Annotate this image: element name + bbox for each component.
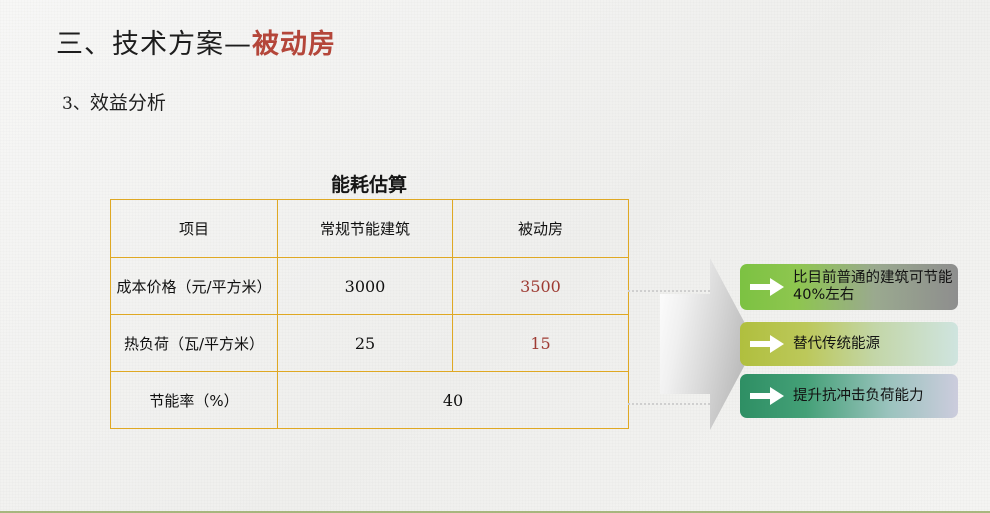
page-title-main: 三、技术方案— [56,29,252,60]
cell-cost-conventional: 3000 [278,258,453,315]
section-title: 效益分析 [90,92,166,114]
callout-label: 替代传统能源 [793,336,880,353]
arrow-right-icon [750,335,784,353]
table-header-item: 项目 [111,200,278,258]
cell-saving-rate-merged: 40 [278,372,629,429]
table-caption: 能耗估算 [110,170,628,197]
table-header-passive: 被动房 [453,200,629,258]
row-label-cost: 成本价格（元/平方米） [111,258,278,315]
table-header-conventional: 常规节能建筑 [278,200,453,258]
cell-cost-passive: 3500 [453,258,629,315]
row-label-heat-load: 热负荷（瓦/平方米） [111,315,278,372]
callout-label: 比目前普通的建筑可节能40%左右 [793,270,958,304]
callout-box-alternative-energy[interactable]: 替代传统能源 [740,322,958,366]
energy-estimate-table: 项目 常规节能建筑 被动房 成本价格（元/平方米） 3000 3500 热负荷（… [110,199,629,429]
page-title: 三、技术方案—被动房 [56,22,336,61]
table-row: 热负荷（瓦/平方米） 25 15 [111,315,629,372]
callout-label: 提升抗冲击负荷能力 [793,388,924,405]
table-row: 成本价格（元/平方米） 3000 3500 [111,258,629,315]
callout-box-load-resilience[interactable]: 提升抗冲击负荷能力 [740,374,958,418]
slide-canvas: 三、技术方案—被动房 3、效益分析 能耗估算 项目 常规节能建筑 被动房 成本价… [0,0,990,513]
cell-heat-load-passive: 15 [453,315,629,372]
section-number: 3、 [62,94,90,114]
arrow-right-icon [750,278,784,296]
callout-box-energy-saving[interactable]: 比目前普通的建筑可节能40%左右 [740,264,958,310]
section-heading: 3、效益分析 [62,88,166,115]
page-title-accent: 被动房 [252,29,336,60]
table-header-row: 项目 常规节能建筑 被动房 [111,200,629,258]
cell-heat-load-conventional: 25 [278,315,453,372]
row-label-saving-rate: 节能率（%） [111,372,278,429]
table-row: 节能率（%） 40 [111,372,629,429]
arrow-right-icon [750,387,784,405]
